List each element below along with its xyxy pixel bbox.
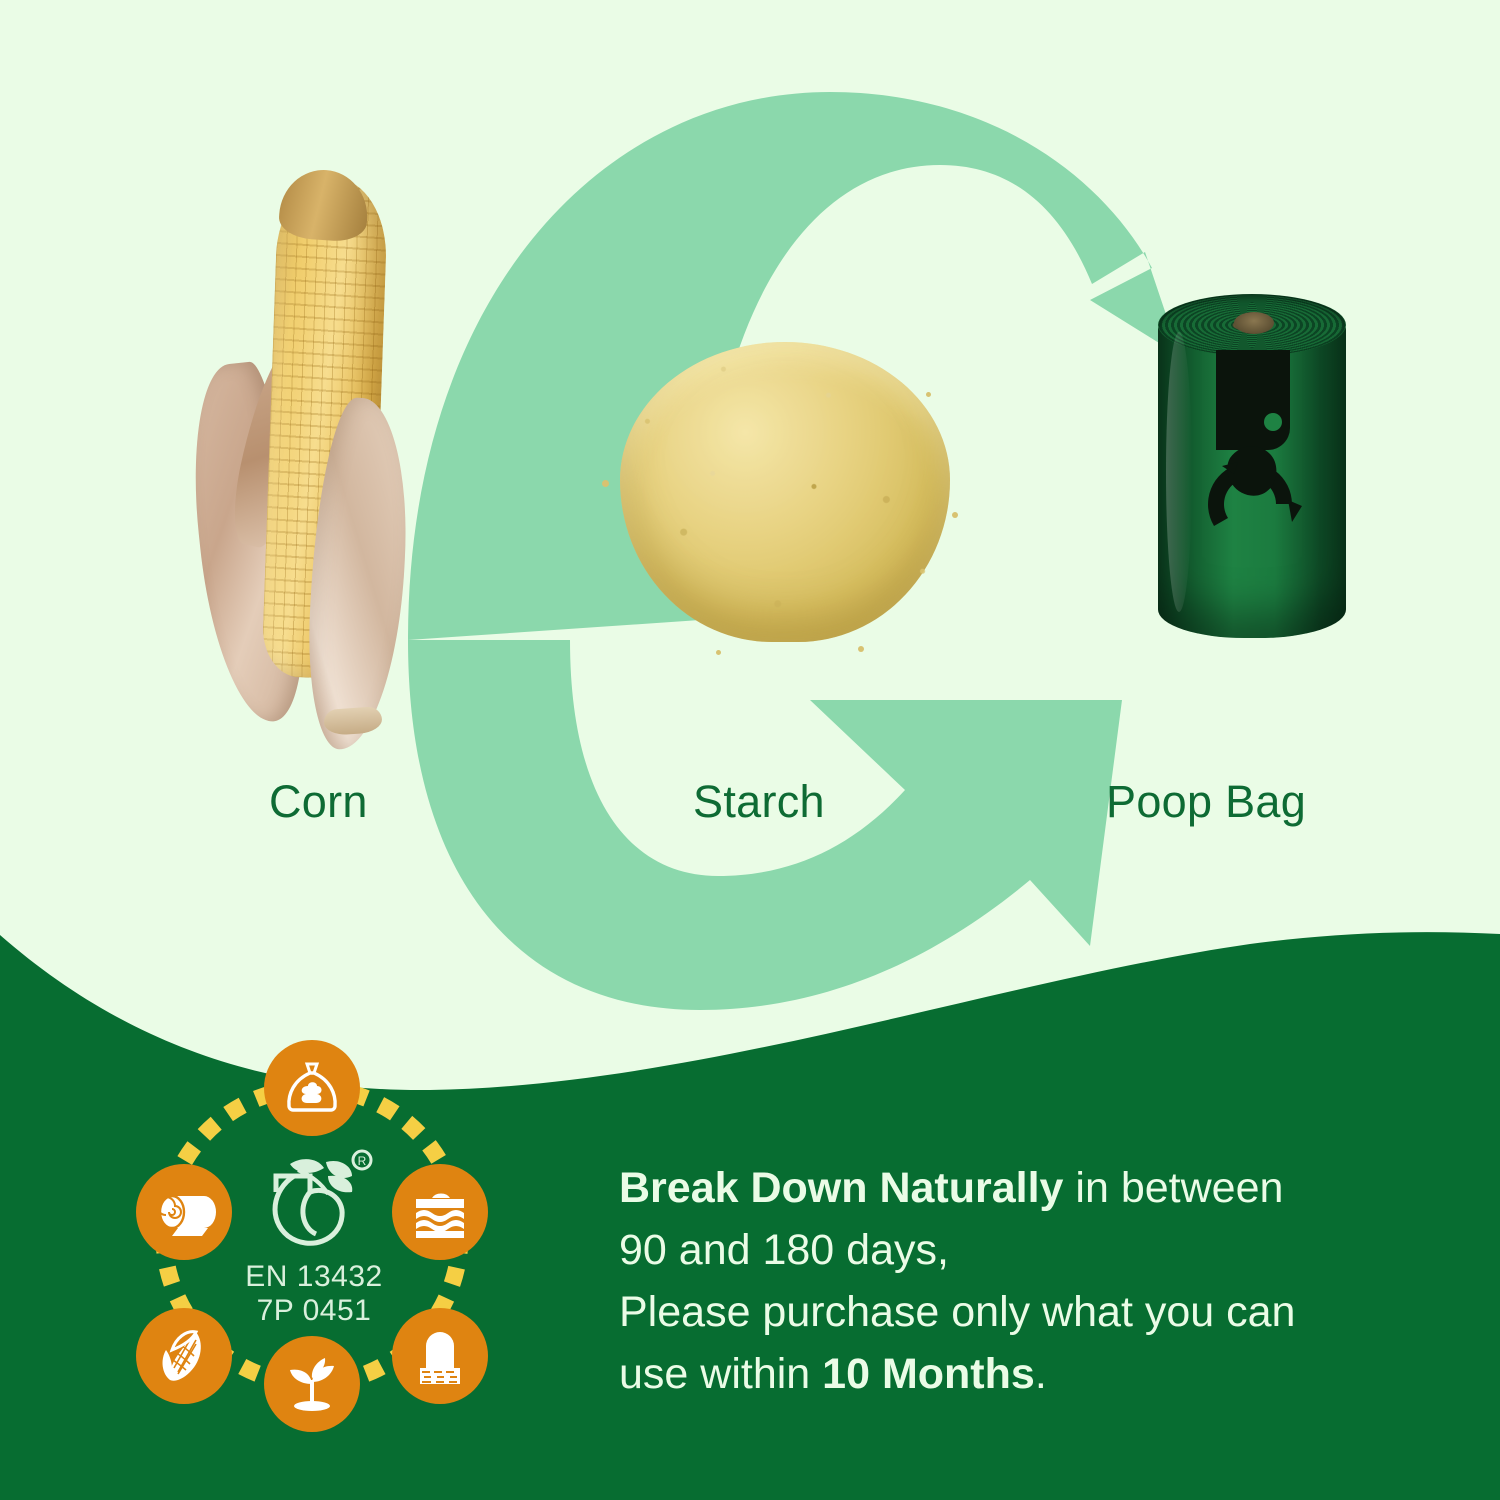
step-label-poop-bag: Poop Bag — [1106, 776, 1306, 828]
poop-bag-roll-image — [1158, 286, 1346, 662]
roll-core-hub — [1234, 312, 1274, 334]
seedling-compostable-mark: R EN 13432 7P 0451 — [230, 1146, 398, 1336]
svg-text:R: R — [358, 1154, 367, 1168]
message-line-4-suffix: . — [1035, 1350, 1047, 1398]
compost-soil-glyph — [408, 1324, 472, 1388]
message-line-2: 90 and 180 days, — [619, 1219, 1409, 1281]
message-line-4-prefix: use within — [619, 1350, 822, 1398]
corn-stalk-end — [323, 706, 383, 736]
certification-badge: R EN 13432 7P 0451 — [112, 1036, 512, 1436]
corn-cob-image — [196, 168, 414, 734]
starch-speck — [926, 392, 931, 397]
step-label-starch: Starch — [693, 776, 825, 828]
water-waves-glyph — [408, 1180, 472, 1244]
seedling-sprout-glyph — [280, 1352, 344, 1416]
corn-cob-tip — [278, 167, 371, 243]
poop-bag-icon — [264, 1040, 360, 1136]
certification-code: EN 13432 7P 0451 — [245, 1260, 382, 1328]
starch-granules — [604, 330, 966, 656]
starch-speck — [858, 646, 864, 652]
corn-glyph — [152, 1324, 216, 1388]
starch-speck — [602, 480, 609, 487]
message-line-1-bold: Break Down Naturally — [619, 1164, 1063, 1212]
bag-roll-icon — [136, 1164, 232, 1260]
starch-speck — [952, 512, 958, 518]
breakdown-message: Break Down Naturally in between 90 and 1… — [619, 1157, 1409, 1405]
bag-roll-glyph — [152, 1180, 216, 1244]
message-line-1: Break Down Naturally in between — [619, 1157, 1409, 1219]
seedling-logo-icon: R — [254, 1146, 374, 1256]
message-line-4-bold: 10 Months — [822, 1350, 1035, 1398]
roll-highlight — [1166, 332, 1192, 612]
message-line-1-rest: in between — [1063, 1164, 1283, 1212]
starch-powder-image — [596, 330, 978, 660]
message-line-3: Please purchase only what you can — [619, 1281, 1409, 1343]
compost-soil-icon — [392, 1308, 488, 1404]
corn-icon — [136, 1308, 232, 1404]
poop-bag-glyph — [280, 1056, 344, 1120]
starch-speck — [716, 650, 721, 655]
infographic-canvas: Corn Starch Poop Bag R — [0, 0, 1500, 1500]
message-line-4: use within 10 Months. — [619, 1343, 1409, 1405]
seedling-sprout-icon — [264, 1336, 360, 1432]
water-waves-icon — [392, 1164, 488, 1260]
brand-dog-logo-icon — [1200, 350, 1306, 550]
step-label-corn: Corn — [269, 776, 368, 828]
